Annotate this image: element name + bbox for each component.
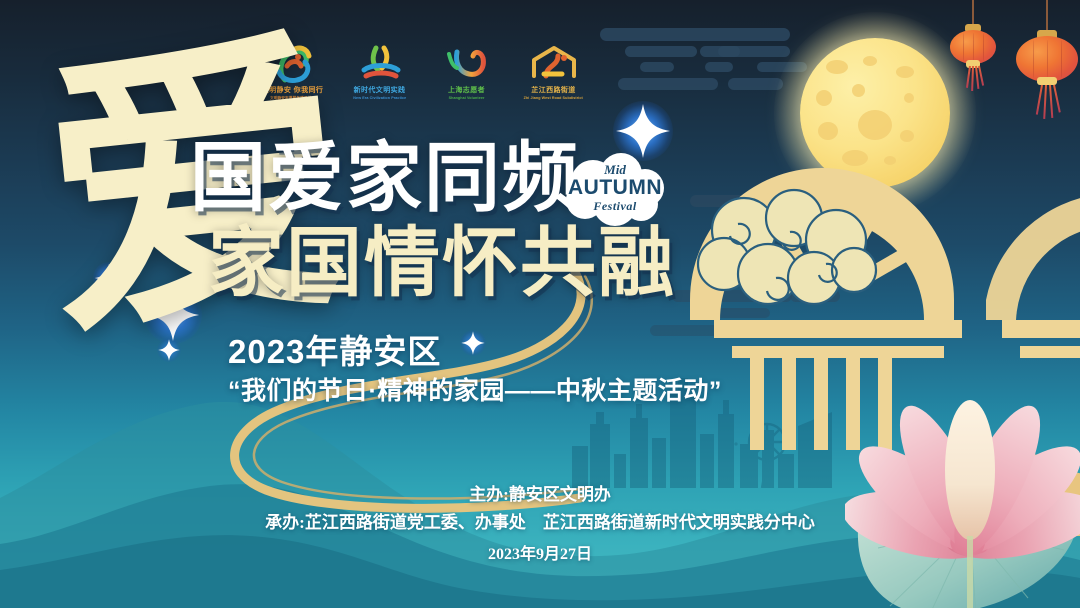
badge-festival-label: Festival	[563, 199, 667, 214]
logo-label-cn: 芷江西路街道	[531, 87, 575, 95]
subtitle-line-1: 2023年静安区	[228, 325, 441, 373]
footer-co-organizer: 承办:芷江西路街道党工委、办事处 芷江西路街道新时代文明实践分中心	[0, 508, 1080, 533]
footer-date: 2023年9月27日	[0, 540, 1080, 564]
badge-autumn-label: AUTUMN	[563, 176, 667, 200]
logo-shanghai-volunteer: 上海志愿者 Shanghai Volunteer	[432, 42, 501, 108]
logo-zhijiang-xilu: 芷江西路街道 Zhi Jiang West Road Subdistrict	[519, 42, 588, 108]
headline-line-1: 国爱家同频	[190, 141, 580, 217]
mid-autumn-poster: 文明静安 你我同行 文明静安志愿服务项目标识 新时代文明实践 New Era C…	[0, 0, 1080, 608]
mid-autumn-badge: Mid AUTUMN Festival	[563, 152, 667, 230]
shanghai-volunteer-icon	[439, 42, 495, 86]
footer-organizer: 主办:静安区文明办	[0, 480, 1080, 505]
badge-text-group: Mid AUTUMN Festival	[563, 152, 667, 230]
chinese-lantern	[950, 30, 996, 64]
logo-label-en: Shanghai Volunteer	[449, 95, 485, 100]
logo-label-en: Zhi Jiang West Road Subdistrict	[524, 95, 583, 100]
headline-line-2: 家国情怀共融	[208, 226, 676, 302]
logo-label-cn: 上海志愿者	[448, 87, 485, 95]
zhijiang-xilu-house-icon	[526, 42, 582, 86]
subtitle-line-2: “我们的节日·精神的家园——中秋主题活动”	[228, 371, 722, 407]
chinese-lantern	[1016, 36, 1078, 82]
four-point-sparkle	[460, 330, 486, 356]
